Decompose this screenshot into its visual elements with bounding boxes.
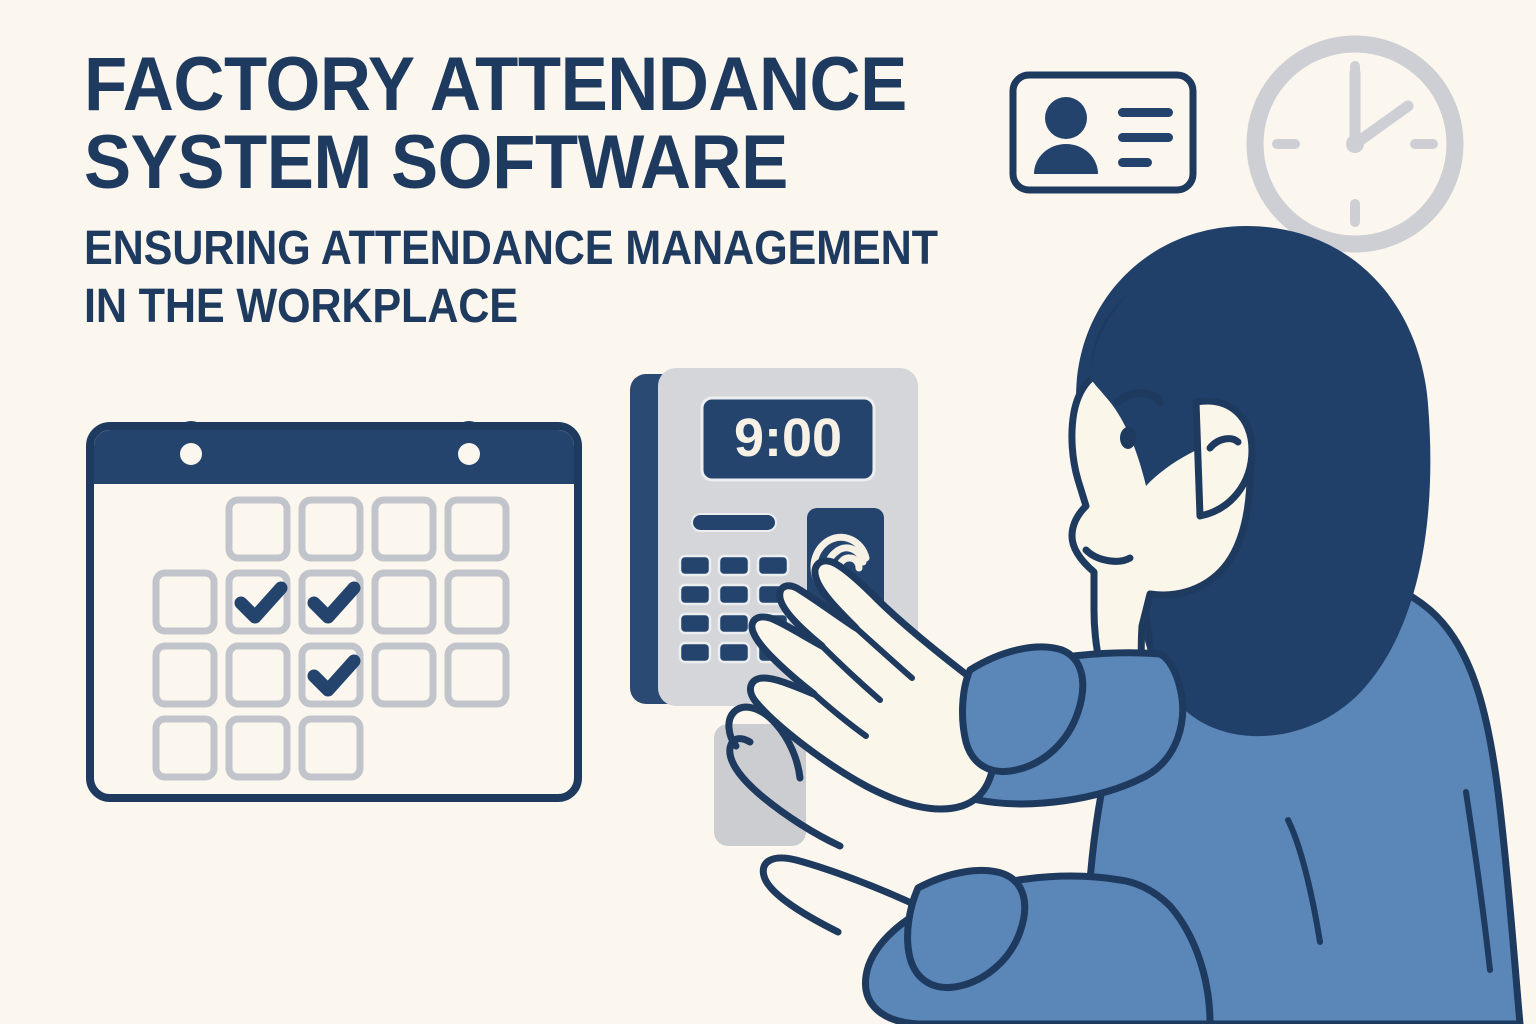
calendar-cell (229, 719, 287, 777)
calendar-cell (448, 573, 506, 631)
calendar-cell (156, 573, 214, 631)
worker-eye (1120, 427, 1136, 449)
calendar-cell (375, 646, 433, 704)
id-card-icon (1008, 70, 1198, 195)
poster-canvas: FACTORY ATTENDANCE SYSTEM SOFTWARE ENSUR… (0, 0, 1536, 1024)
clock-hour-hand (1355, 106, 1408, 144)
calendar-cell (229, 500, 287, 558)
calendar-cell (156, 646, 214, 704)
calendar-cell (448, 500, 506, 558)
worker-upper-hand (750, 561, 994, 809)
calendar-header-edge (94, 478, 574, 484)
calendar-header-bar (94, 430, 574, 480)
calendar-cell (448, 646, 506, 704)
page-title-line-1: FACTORY ATTENDANCE (84, 46, 977, 124)
factory-worker-illustration (690, 180, 1536, 1024)
calendar-cell (375, 573, 433, 631)
calendar-cell (156, 719, 214, 777)
wall-calendar-icon (74, 392, 594, 812)
calendar-cell (302, 719, 360, 777)
clock-center-pin (1346, 135, 1364, 153)
calendar-cell (302, 500, 360, 558)
calendar-cell (229, 646, 287, 704)
calendar-cell (375, 500, 433, 558)
